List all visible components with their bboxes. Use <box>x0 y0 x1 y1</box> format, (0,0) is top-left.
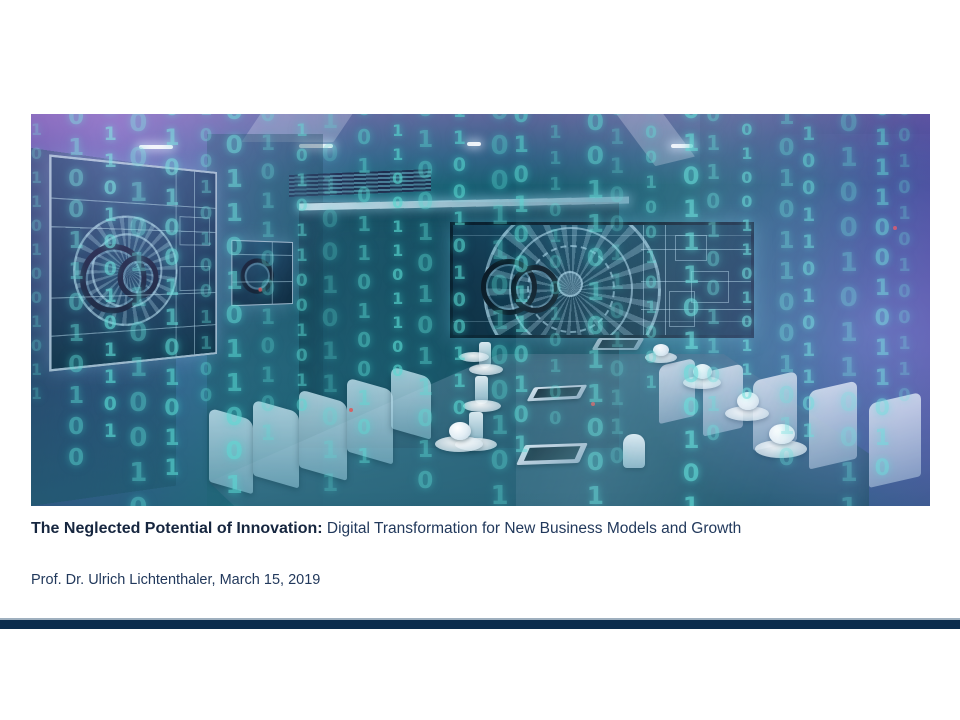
ceiling-light <box>467 142 481 146</box>
footer-rule <box>0 620 960 629</box>
author-and-date: Prof. Dr. Ulrich Lichtenthaler, March 15… <box>31 570 931 590</box>
caption-block: The Neglected Potential of Innovation: D… <box>31 518 931 590</box>
glass-reflection <box>516 114 930 506</box>
hero-image: 0101101001011101001101010001101001011011… <box>31 114 930 506</box>
title-subtitle-part: Digital Transformation for New Business … <box>323 520 742 537</box>
title-bold-part: The Neglected Potential of Innovation: <box>31 520 323 537</box>
slide-title: The Neglected Potential of Innovation: D… <box>31 518 931 540</box>
presentation-slide: 0101101001011101001101010001101001011011… <box>0 0 960 720</box>
